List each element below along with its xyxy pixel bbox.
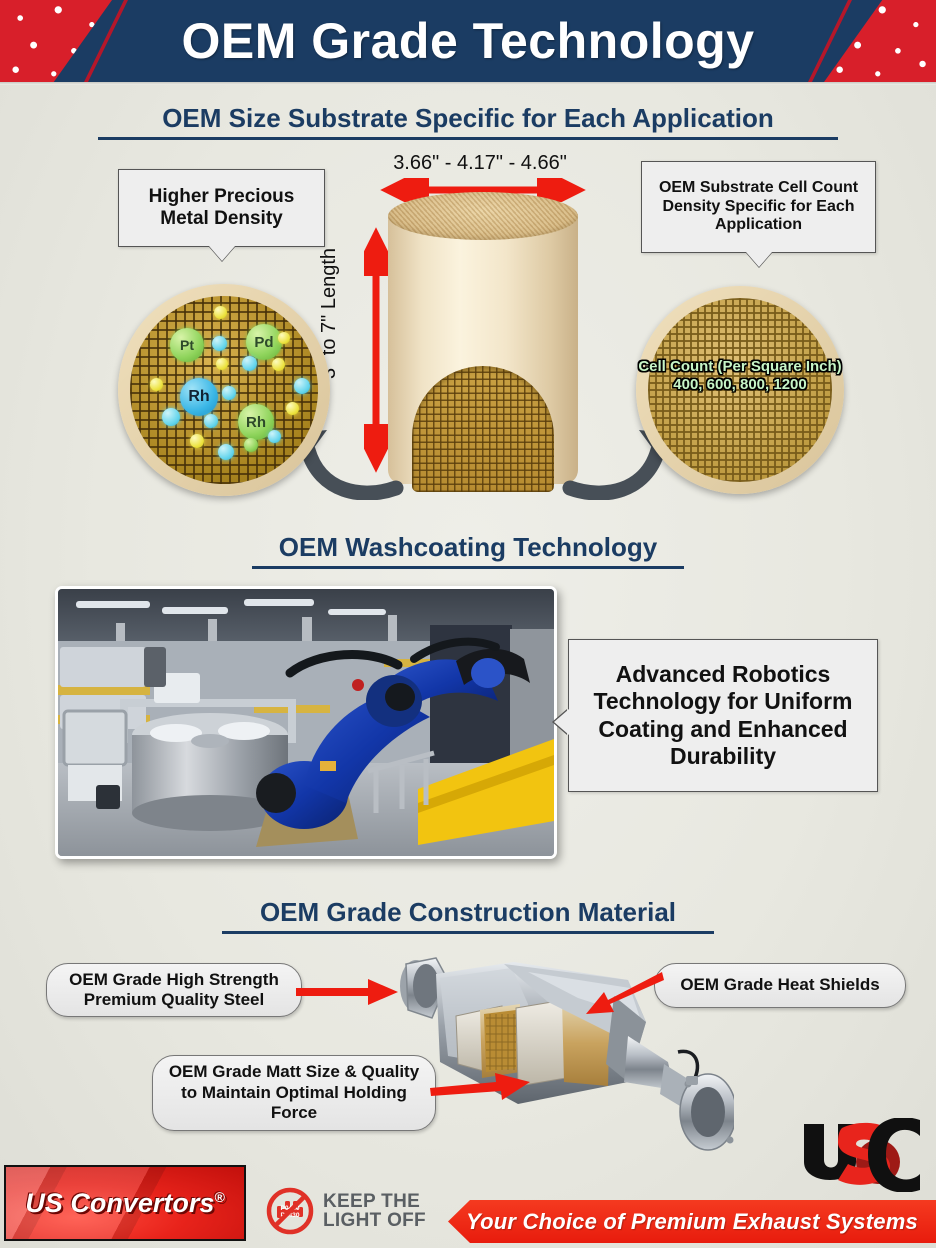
substrate-cylinder-graphic — [388, 192, 578, 492]
section-rule — [222, 931, 714, 934]
keep-light-line-1: KEEP THE — [323, 1192, 426, 1211]
cell-count-title: Cell Count (Per Square Inch) — [586, 358, 894, 376]
keep-the-light-off-badge: P0420 P0430 KEEP THE LIGHT OFF — [265, 1186, 426, 1236]
callout-tail-icon — [209, 246, 235, 261]
header-underline — [0, 82, 936, 85]
no-check-engine-light-icon: P0420 P0430 — [265, 1186, 315, 1236]
section-title-washcoating: OEM Washcoating Technology — [0, 532, 936, 569]
factory-scene-illustration — [58, 589, 554, 856]
callout-advanced-robotics: Advanced Robotics Technology for Uniform… — [568, 639, 878, 792]
section-title-washcoating-text: OEM Washcoating Technology — [279, 532, 657, 562]
callout-text: OEM Substrate Cell Count Density Specifi… — [650, 179, 867, 236]
us-convertors-logo: US Convertors® — [4, 1165, 246, 1241]
callout-text: OEM Grade High Strength Premium Quality … — [57, 970, 291, 1011]
particle-dot — [216, 358, 228, 370]
page-header: OEM Grade Technology — [0, 0, 936, 82]
section-title-substrate-text: OEM Size Substrate Specific for Each App… — [162, 103, 774, 133]
particle-dot — [286, 402, 299, 415]
callout-text: OEM Grade Matt Size & Quality to Maintai… — [163, 1062, 425, 1123]
section-rule — [98, 137, 838, 140]
particle-dot — [150, 378, 163, 391]
zoom-circle-precious-metals: PtPdRhRh — [118, 284, 330, 496]
keep-light-line-2: LIGHT OFF — [323, 1211, 426, 1230]
pointer-arrow-heat-shield-icon — [584, 968, 664, 1018]
brand-text: US Convertors — [25, 1188, 214, 1218]
section-title-construction-text: OEM Grade Construction Material — [260, 897, 676, 927]
section-rule — [252, 566, 684, 569]
particle-dot — [242, 356, 257, 371]
particle-dot — [222, 386, 236, 400]
callout-higher-precious-metal-density: Higher Precious Metal Density — [118, 169, 325, 247]
cell-count-values: 400, 600, 800, 1200 — [586, 376, 894, 394]
registered-mark: ® — [214, 1189, 224, 1205]
callout-cell-count-density: OEM Substrate Cell Count Density Specifi… — [641, 161, 876, 253]
cell-count-caption: Cell Count (Per Square Inch) 400, 600, 8… — [586, 358, 894, 395]
particle-dot — [272, 358, 285, 371]
particle-dot — [212, 336, 227, 351]
particle-dot — [190, 434, 204, 448]
particle-pd: Pd — [246, 324, 282, 360]
washcoating-photo — [55, 586, 557, 859]
cylinder-top-face — [388, 192, 578, 240]
section-title-construction: OEM Grade Construction Material — [0, 897, 936, 934]
particle-dot — [244, 438, 258, 452]
callout-heat-shields: OEM Grade Heat Shields — [654, 963, 906, 1008]
particle-dot — [294, 378, 310, 394]
tagline-banner: Your Choice of Premium Exhaust Systems — [448, 1200, 936, 1243]
stars-decoration-left — [0, 0, 112, 82]
callout-text: OEM Grade Heat Shields — [680, 975, 879, 995]
pointer-arrow-steel-icon — [296, 975, 402, 1009]
usc-monogram-logo — [798, 1118, 926, 1192]
particle-pt: Pt — [170, 328, 204, 362]
callout-matt-size-quality: OEM Grade Matt Size & Quality to Maintai… — [152, 1055, 436, 1131]
callout-tail-icon — [746, 252, 772, 267]
page-title: OEM Grade Technology — [181, 12, 754, 70]
callout-text: Higher Precious Metal Density — [127, 186, 316, 231]
particle-dot — [214, 306, 227, 319]
diameter-label: 3.66" - 4.17" - 4.66" — [370, 152, 590, 175]
usc-logo-icon — [798, 1118, 926, 1192]
infographic-page: OEM Grade Technology OEM Size Substrate … — [0, 0, 936, 1248]
particle-dot — [278, 332, 290, 344]
keep-light-text: KEEP THE LIGHT OFF — [323, 1192, 426, 1231]
particle-dot — [162, 408, 180, 426]
callout-text: Advanced Robotics Technology for Uniform… — [581, 661, 865, 770]
brand-name: US Convertors® — [25, 1188, 224, 1219]
callout-tail-icon — [554, 709, 569, 735]
particle-dot — [204, 414, 218, 428]
banner-text: Your Choice of Premium Exhaust Systems — [466, 1209, 918, 1235]
particle-dot — [218, 444, 234, 460]
callout-high-strength-steel: OEM Grade High Strength Premium Quality … — [46, 963, 302, 1017]
section-title-substrate: OEM Size Substrate Specific for Each App… — [0, 103, 936, 140]
particle-dot — [268, 430, 281, 443]
particle-rh: Rh — [180, 378, 218, 416]
pointer-arrow-matt-icon — [430, 1068, 536, 1102]
